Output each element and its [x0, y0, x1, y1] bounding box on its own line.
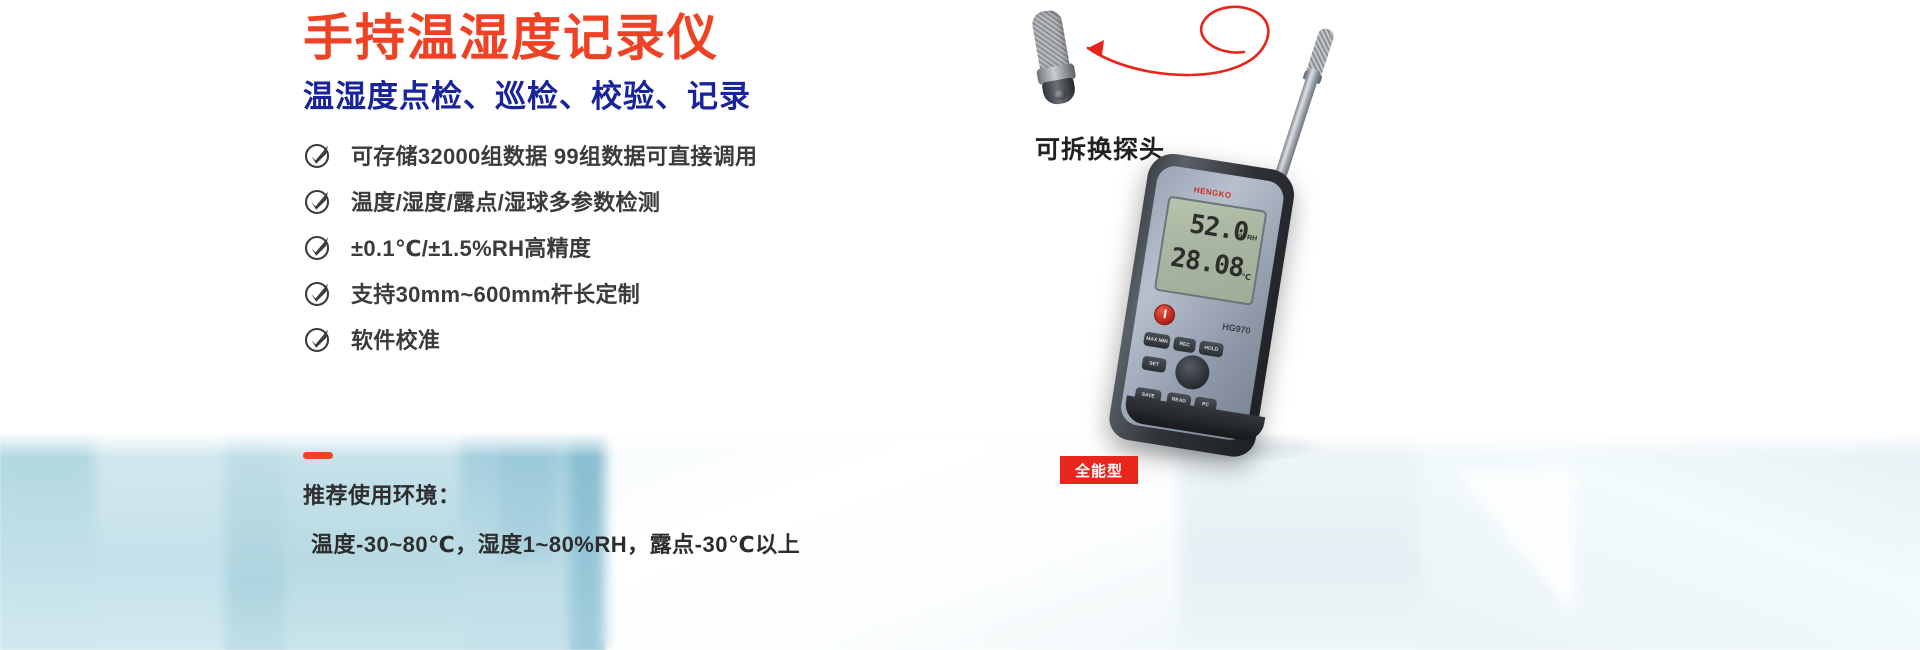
list-item-label: ±0.1℃/±1.5%RH高精度	[351, 231, 591, 263]
list-item-label: 支持30mm~600mm杆长定制	[351, 277, 640, 309]
key-hold[interactable]: HOLD	[1198, 340, 1224, 358]
circled-check-icon	[303, 140, 333, 170]
curved-arrow-icon	[1030, 0, 1290, 110]
page-subtitle: 温湿度点检、巡检、校验、记录	[303, 78, 751, 116]
environment-label: 推荐使用环境：	[303, 478, 1063, 510]
product-banner: 手持温湿度记录仪 温湿度点检、巡检、校验、记录 可存储32000组数据 99组数…	[0, 0, 1920, 650]
feature-list: 可存储32000组数据 99组数据可直接调用 温度/湿度/露点/湿球多参数检测 …	[303, 132, 1003, 362]
list-item-label: 温度/湿度/露点/湿球多参数检测	[351, 185, 660, 217]
key-set[interactable]: SET	[1141, 355, 1167, 373]
circled-check-icon	[303, 232, 333, 262]
list-item-label: 软件校准	[351, 323, 440, 355]
accent-dash-divider	[303, 452, 333, 459]
circled-check-icon	[303, 278, 333, 308]
key-rec[interactable]: REC	[1173, 336, 1197, 353]
list-item: 温度/湿度/露点/湿球多参数检测	[303, 178, 1003, 224]
circled-check-icon	[303, 186, 333, 216]
lcd-temperature-unit: ℃	[1241, 272, 1252, 282]
environment-block: 推荐使用环境： 温度-30~80℃，湿度1~80%RH，露点-30℃以上	[303, 452, 1063, 559]
list-item: 可存储32000组数据 99组数据可直接调用	[303, 132, 1003, 178]
power-button[interactable]	[1152, 303, 1176, 327]
navigation-dpad[interactable]	[1173, 353, 1212, 392]
meter-model-label: HG970	[1222, 322, 1252, 336]
list-item: 支持30mm~600mm杆长定制	[303, 270, 1003, 316]
handheld-meter-device: HENGKO 52.0 % RH 28.08 ℃ HG970 MAX MIN R…	[1106, 150, 1298, 460]
key-max-min[interactable]: MAX MIN	[1143, 331, 1171, 349]
product-image-area: 可拆换探头 HENGKO 52.0 % RH 28.08 ℃ HG970	[960, 0, 1920, 650]
meter-brand-label: HENGKO	[1193, 185, 1232, 200]
environment-value: 温度-30~80℃，湿度1~80%RH，露点-30℃以上	[303, 527, 1063, 559]
meter-lcd-screen: 52.0 % RH 28.08 ℃	[1154, 195, 1268, 305]
lcd-humidity-value: 52.0	[1188, 209, 1251, 248]
list-item: 软件校准	[303, 316, 1003, 362]
circled-check-icon	[303, 324, 333, 354]
list-item-label: 可存储32000组数据 99组数据可直接调用	[351, 139, 757, 171]
list-item: ±0.1℃/±1.5%RH高精度	[303, 224, 1003, 270]
lcd-temperature-value: 28.08	[1168, 243, 1245, 284]
page-title: 手持温湿度记录仪	[303, 8, 719, 68]
status-badge: 全能型	[1060, 456, 1138, 484]
